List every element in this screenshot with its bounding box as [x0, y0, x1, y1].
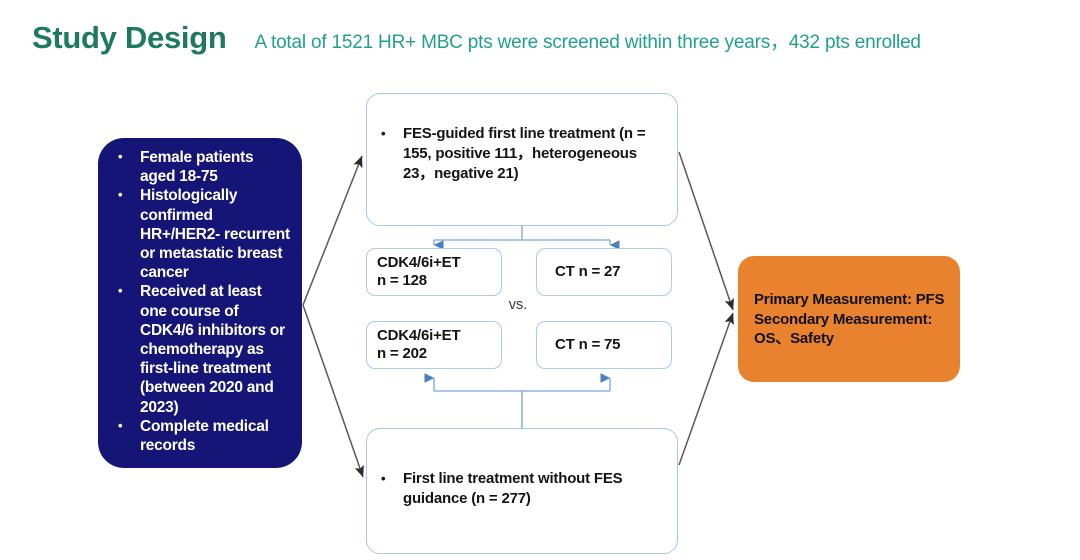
list-item: Female patients aged 18-75 — [110, 148, 292, 186]
eligibility-criteria-box: Female patients aged 18-75 Histologicall… — [98, 138, 302, 468]
bullet-icon: • — [381, 469, 403, 489]
treatment-box-cdk-202: CDK4/6i+ET n = 202 — [366, 321, 502, 369]
outcome-measures-text: Primary Measurement: PFS Secondary Measu… — [754, 290, 952, 349]
page-subtitle: A total of 1521 HR+ MBC pts were screene… — [254, 27, 920, 54]
arrow-nofes-to-outcomes — [679, 313, 733, 465]
fes-guided-arm-text: •FES-guided first line treatment (n = 15… — [381, 124, 669, 184]
vs-label: vs. — [496, 297, 540, 313]
no-fes-arm-text: •First line treatment without FES guidan… — [381, 469, 669, 509]
no-fes-arm-box: •First line treatment without FES guidan… — [366, 428, 678, 554]
arrow-eligibility-to-fes — [303, 156, 362, 305]
treatment-label: CT n = 27 — [555, 263, 667, 281]
no-fes-arm-label: First line treatment without FES guidanc… — [403, 469, 667, 509]
treatment-box-cdk-128: CDK4/6i+ET n = 128 — [366, 248, 502, 296]
slide-canvas: Study Design A total of 1521 HR+ MBC pts… — [0, 0, 1080, 560]
treatment-label: CT n = 75 — [555, 336, 667, 354]
list-item: Received at least one course of CDK4/6 i… — [110, 282, 292, 416]
treatment-box-ct-27: CT n = 27 — [536, 248, 672, 296]
outcome-measures-box: Primary Measurement: PFS Secondary Measu… — [738, 256, 960, 382]
bullet-icon: • — [381, 124, 403, 144]
list-item: Histologically confirmed HR+/HER2- recur… — [110, 186, 292, 282]
treatment-label: CDK4/6i+ET n = 128 — [377, 254, 497, 290]
arrow-eligibility-to-nofes — [303, 305, 363, 477]
list-item: Complete medical records — [110, 417, 292, 455]
page-title: Study Design — [32, 20, 226, 56]
slide-header: Study Design A total of 1521 HR+ MBC pts… — [32, 20, 1062, 64]
treatment-label: CDK4/6i+ET n = 202 — [377, 327, 497, 363]
arrow-fes-to-outcomes — [679, 152, 733, 310]
fes-guided-arm-label: FES-guided first line treatment (n = 155… — [403, 124, 667, 184]
eligibility-list: Female patients aged 18-75 Histologicall… — [110, 148, 292, 455]
fes-guided-arm-box: •FES-guided first line treatment (n = 15… — [366, 93, 678, 226]
treatment-box-ct-75: CT n = 75 — [536, 321, 672, 369]
